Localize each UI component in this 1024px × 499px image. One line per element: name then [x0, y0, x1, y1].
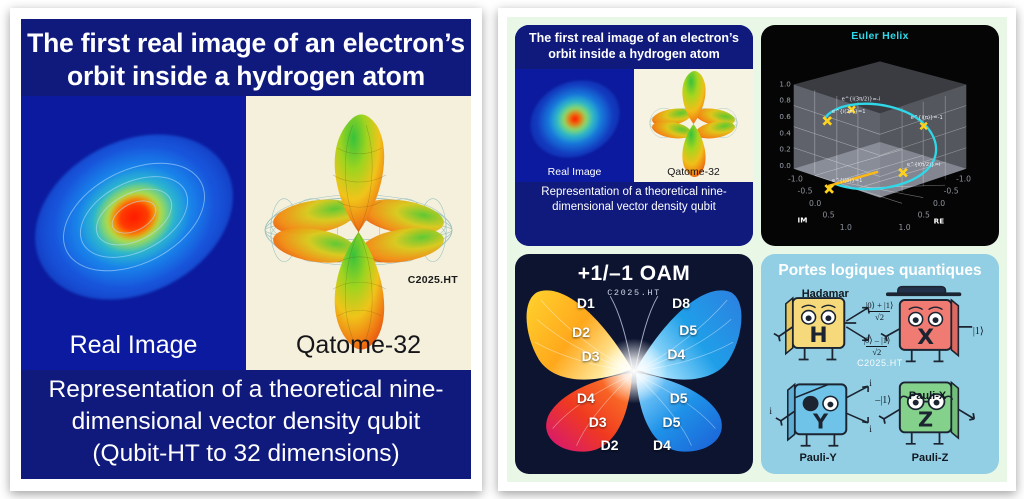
- left-card-watermark: C2025.HT: [408, 274, 458, 286]
- pauli-z-output: –|1⟩: [875, 395, 891, 406]
- euler-y-tick-0: -1.0: [956, 174, 971, 183]
- euler-z-tick-2: 0.6: [779, 112, 791, 121]
- oam-label-left-bottom-0: D4: [577, 390, 595, 406]
- euler-y-tick-1: -0.5: [944, 187, 959, 196]
- euler-helix-title: Euler Helix: [761, 30, 999, 42]
- euler-axis-re-label: RE: [934, 216, 945, 225]
- euler-x-tick-3: 0.5: [822, 211, 834, 220]
- oam-label-right-top-1: D5: [679, 322, 697, 338]
- euler-annotation-4: e^{i(0)}=1: [832, 178, 862, 184]
- gate-pauli-y: Y: [776, 384, 868, 445]
- hadamard-output-minus-denominator: √2: [866, 346, 887, 357]
- hadamard-output-minus: |0⟩ – |1⟩ √2: [863, 335, 890, 357]
- gate-name-pauli-x: Pauli-X: [894, 390, 961, 402]
- oam-label-right-top-2: D4: [667, 346, 685, 362]
- oam-label-left-bottom-1: D3: [589, 414, 607, 430]
- euler-y-tick-2: 0.0: [933, 199, 945, 208]
- mini-footer-line2: dimensional vector density qubit: [515, 200, 753, 215]
- euler-z-tick-5: 0.0: [779, 161, 791, 170]
- left-footer-line2: dimensional vector density qubit: [21, 406, 471, 438]
- oam-label-left-top-0: D1: [577, 295, 595, 311]
- oam-label-left-top-2: D3: [582, 348, 600, 364]
- left-card-body: Real Image: [21, 96, 471, 370]
- orbital-svg: [246, 96, 471, 370]
- euler-x-tick-0: -1.0: [788, 174, 803, 183]
- screenshot-root: The first real image of an electron’s or…: [0, 0, 1024, 499]
- orbital-caption: Qatome-32: [246, 331, 471, 360]
- oam-label-left-bottom-2: D2: [601, 437, 619, 453]
- card-oam-butterfly[interactable]: +1/–1 OAM C2025.HT: [515, 254, 753, 475]
- euler-y-tick-3: 0.5: [918, 211, 930, 220]
- euler-annotation-0: e^{i(3π/2)}=-i: [842, 97, 881, 103]
- real-image-pane: Real Image: [21, 96, 246, 370]
- euler-x-tick-4: 1.0: [840, 223, 852, 232]
- real-image-caption: Real Image: [21, 331, 246, 360]
- euler-z-tick-1: 0.8: [779, 96, 791, 105]
- quantum-gates-title: Portes logiques quantiques: [761, 262, 999, 280]
- left-card-title-line2: orbit inside a hydrogen atom: [21, 60, 471, 93]
- gate-name-hadamard: Hadamar: [792, 288, 859, 300]
- mini-orbital-caption: Qatome-32: [634, 166, 753, 178]
- svg-text:Y: Y: [812, 409, 829, 433]
- euler-annotation-2: e^{i(π)}=-1: [911, 115, 943, 121]
- mini-electron-density-heatmap: [517, 69, 631, 171]
- hadamard-output-plus: |0⟩ + |1⟩ √2: [866, 300, 894, 322]
- euler-z-ticks: 1.0 0.8 0.6 0.4 0.2 0.0: [779, 79, 791, 169]
- orbital-pane: C2025.HT Qatome-32: [246, 96, 471, 370]
- pauli-x-output: |1⟩: [973, 326, 984, 337]
- oam-label-right-top-0: D8: [672, 295, 690, 311]
- butterfly-core-glow: [600, 338, 667, 403]
- euler-helix-plot: e^{i(3π/2)}=-i e^{i(2π)}=1 e^{i(π)}=-1 e…: [761, 25, 999, 246]
- card-hydrogen-atom[interactable]: The first real image of an electron’s or…: [515, 25, 753, 246]
- euler-annotation-1: e^{i(2π)}=1: [832, 109, 866, 115]
- mini-real-image-pane: Real Image: [515, 69, 634, 182]
- gate-pauli-x: X: [881, 286, 972, 361]
- card-grid: The first real image of an electron’s or…: [515, 25, 999, 474]
- mini-title-line2: orbit inside a hydrogen atom: [515, 47, 753, 63]
- card-quantum-gates[interactable]: Portes logiques quantiques C2025.HT: [761, 254, 999, 475]
- hydrogen-atom-card: The first real image of an electron’s or…: [21, 19, 471, 479]
- euler-axis-im-label: IM: [798, 215, 808, 224]
- euler-y-tick-4: 1.0: [898, 223, 910, 232]
- oam-label-left-top-1: D2: [572, 324, 590, 340]
- pauli-y-output-bottom: i: [869, 425, 872, 435]
- euler-z-tick-0: 1.0: [779, 79, 791, 88]
- svg-text:H: H: [809, 323, 827, 348]
- pauli-y-input: i: [769, 407, 772, 417]
- euler-z-tick-3: 0.4: [779, 128, 791, 137]
- oam-title: +1/–1 OAM: [515, 262, 753, 286]
- mini-real-image-caption: Real Image: [515, 166, 634, 178]
- euler-z-tick-4: 0.2: [779, 145, 790, 154]
- oam-watermark: C2025.HT: [515, 288, 753, 298]
- mini-card-title: The first real image of an electron’s or…: [515, 25, 753, 69]
- right-panel-canvas: The first real image of an electron’s or…: [507, 17, 1007, 482]
- mini-card-body: Real Image: [515, 69, 753, 182]
- euler-x-tick-1: -0.5: [798, 187, 813, 196]
- hadamard-output-plus-numerator: |0⟩ + |1⟩: [866, 300, 894, 311]
- gate-name-pauli-z: Pauli-Z: [897, 452, 964, 464]
- mini-orbital-pane: Qatome-32: [634, 69, 753, 182]
- hadamard-output-minus-numerator: |0⟩ – |1⟩: [863, 335, 890, 346]
- oam-label-right-bottom-1: D5: [663, 414, 681, 430]
- hadamard-output-plus-denominator: √2: [869, 311, 890, 322]
- svg-text:Z: Z: [918, 407, 933, 431]
- card-euler-helix[interactable]: Euler Helix: [761, 25, 999, 246]
- left-footer-line1: Representation of a theoretical nine-: [21, 374, 471, 406]
- oam-label-right-bottom-0: D5: [670, 390, 688, 406]
- gate-hadamard: H: [774, 298, 869, 359]
- left-panel: The first real image of an electron’s or…: [10, 8, 482, 491]
- gate-name-pauli-y: Pauli-Y: [785, 452, 852, 464]
- left-card-footer: Representation of a theoretical nine- di…: [21, 370, 471, 479]
- euler-annotation-3: e^{i(π/2)}=i: [907, 162, 940, 168]
- left-card-title: The first real image of an electron’s or…: [21, 19, 471, 96]
- plot-box: [794, 61, 967, 203]
- quantum-gates-watermark: C2025.HT: [857, 358, 903, 368]
- pauli-y-output-top: i: [869, 379, 872, 389]
- mini-footer-line1: Representation of a theoretical nine-: [515, 185, 753, 200]
- orbital-illustration: [246, 96, 471, 370]
- mini-card-footer: Representation of a theoretical nine- di…: [515, 182, 753, 246]
- mini-title-line1: The first real image of an electron’s: [515, 31, 753, 47]
- svg-text:X: X: [917, 325, 934, 350]
- oam-label-right-bottom-2: D4: [653, 437, 671, 453]
- euler-x-tick-2: 0.0: [809, 199, 821, 208]
- right-panel: The first real image of an electron’s or…: [498, 8, 1016, 491]
- left-card-title-line1: The first real image of an electron’s: [21, 27, 471, 60]
- left-footer-line3: (Qubit-HT to 32 dimensions): [21, 438, 471, 470]
